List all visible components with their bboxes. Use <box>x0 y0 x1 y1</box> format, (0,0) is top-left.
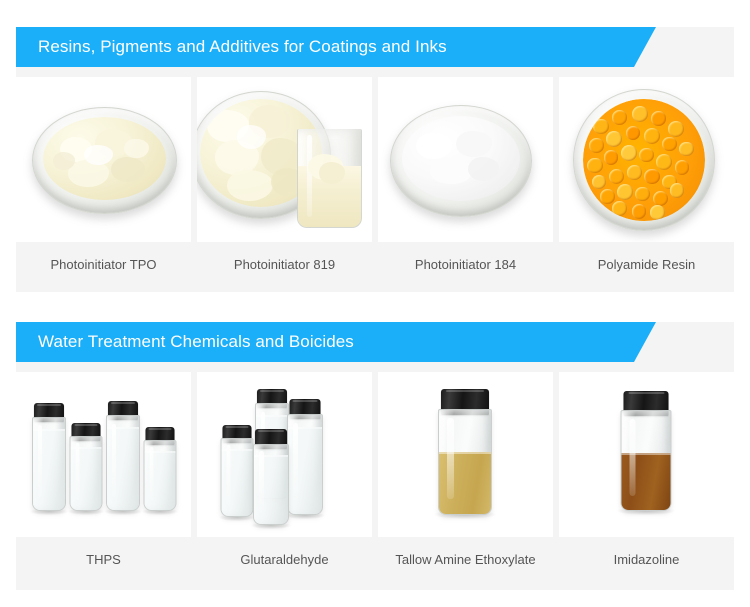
clear-vials-icon <box>16 372 191 537</box>
product-card-photoinitiator-tpo[interactable]: Photoinitiator TPO <box>16 77 191 271</box>
product-label-imidazoline: Imidazoline <box>614 553 680 566</box>
product-label-photoinitiator-184: Photoinitiator 184 <box>415 258 516 271</box>
section-1-product-grid: Photoinitiator TPO <box>16 67 734 271</box>
section-1-title: Resins, Pigments and Additives for Coati… <box>38 37 447 57</box>
section-resins-pigments-additives: Resins, Pigments and Additives for Coati… <box>16 27 734 292</box>
petri-dish-with-beaker-icon <box>197 77 372 242</box>
product-image-tallow-amine-ethoxylate <box>378 372 553 537</box>
product-label-tallow-amine-ethoxylate: Tallow Amine Ethoxylate <box>395 553 535 566</box>
section-2-product-grid: THPS <box>16 362 734 566</box>
petri-dish-orange-pellets-icon <box>559 77 734 242</box>
product-image-photoinitiator-tpo <box>16 77 191 242</box>
product-image-photoinitiator-819 <box>197 77 372 242</box>
section-water-treatment-chemicals: Water Treatment Chemicals and Boicides <box>16 322 734 590</box>
vial-brown-liquid-icon <box>559 372 734 537</box>
product-image-glutaraldehyde <box>197 372 372 537</box>
product-image-thps <box>16 372 191 537</box>
resin-pellets <box>583 99 705 221</box>
product-label-polyamide-resin: Polyamide Resin <box>598 258 696 271</box>
product-showcase-page: Resins, Pigments and Additives for Coati… <box>0 0 750 607</box>
product-image-polyamide-resin <box>559 77 734 242</box>
product-card-photoinitiator-184[interactable]: Photoinitiator 184 <box>378 77 553 271</box>
product-image-imidazoline <box>559 372 734 537</box>
product-image-photoinitiator-184 <box>378 77 553 242</box>
product-card-photoinitiator-819[interactable]: Photoinitiator 819 <box>197 77 372 271</box>
product-label-thps: THPS <box>86 553 121 566</box>
petri-dish-cream-powder-icon <box>16 77 191 242</box>
product-label-photoinitiator-tpo: Photoinitiator TPO <box>51 258 157 271</box>
product-card-glutaraldehyde[interactable]: Glutaraldehyde <box>197 372 372 566</box>
section-1-banner: Resins, Pigments and Additives for Coati… <box>16 27 656 67</box>
product-card-tallow-amine-ethoxylate[interactable]: Tallow Amine Ethoxylate <box>378 372 553 566</box>
clustered-clear-vials-icon <box>197 372 372 537</box>
product-label-photoinitiator-819: Photoinitiator 819 <box>234 258 335 271</box>
product-card-thps[interactable]: THPS <box>16 372 191 566</box>
vial-amber-liquid-icon <box>378 372 553 537</box>
product-card-polyamide-resin[interactable]: Polyamide Resin <box>559 77 734 271</box>
section-2-banner: Water Treatment Chemicals and Boicides <box>16 322 656 362</box>
section-2-title: Water Treatment Chemicals and Boicides <box>38 332 354 352</box>
product-card-imidazoline[interactable]: Imidazoline <box>559 372 734 566</box>
petri-dish-white-powder-icon <box>378 77 553 242</box>
product-label-glutaraldehyde: Glutaraldehyde <box>240 553 328 566</box>
